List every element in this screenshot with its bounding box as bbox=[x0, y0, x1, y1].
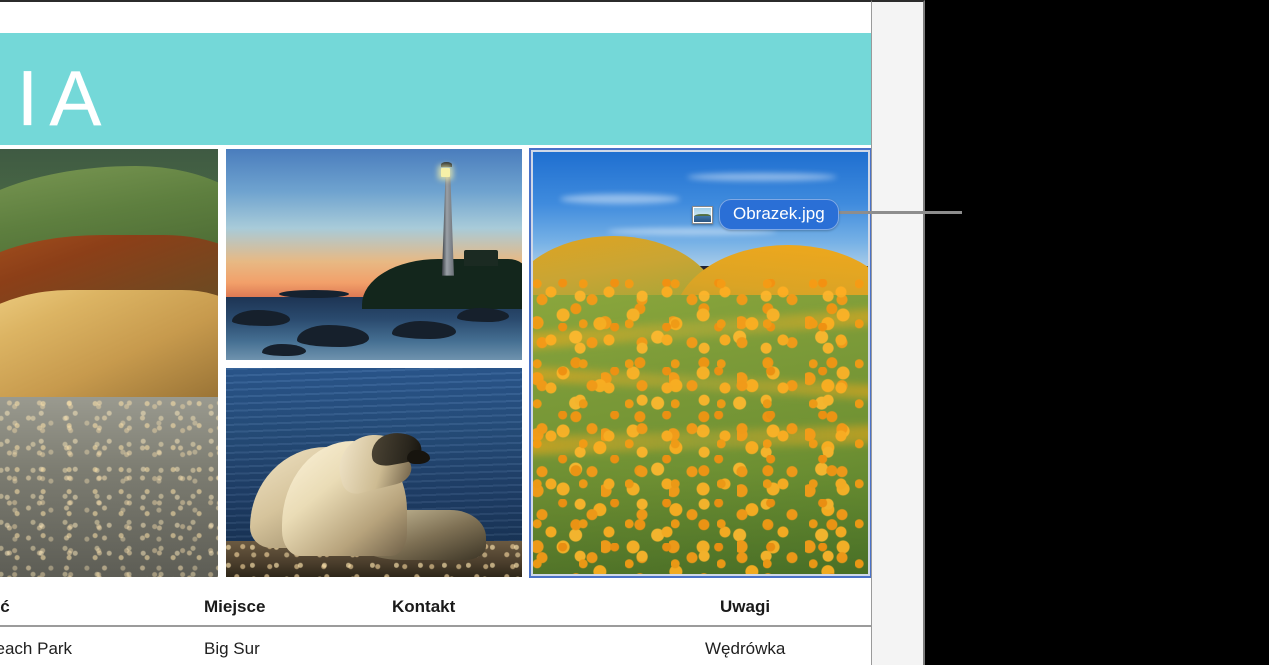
lighthouse-rock bbox=[262, 344, 306, 356]
title-banner: RNIA bbox=[0, 33, 871, 145]
coastal-cliffs-photo[interactable] bbox=[0, 149, 218, 577]
image-filename-callout[interactable]: Obrazek.jpg bbox=[692, 199, 839, 230]
table-cell-name[interactable]: e Beach Park bbox=[0, 639, 72, 659]
lighthouse-photo[interactable] bbox=[226, 149, 522, 360]
image-thumbnail-icon bbox=[692, 206, 713, 224]
lighthouse-lamp bbox=[441, 168, 450, 177]
thumb-water bbox=[694, 216, 711, 221]
lighthouse-rock bbox=[232, 310, 290, 326]
coast-pebble-beach bbox=[0, 397, 218, 577]
poppies-flowers bbox=[533, 279, 868, 574]
column-header-kontakt: Kontakt bbox=[392, 597, 455, 617]
table-cell-place[interactable]: Big Sur bbox=[204, 639, 260, 659]
table-cell-notes[interactable]: Wędrówka bbox=[705, 639, 785, 659]
data-table[interactable]: ność Miejsce Kontakt Uwagi e Beach Park … bbox=[0, 587, 871, 665]
lighthouse-rock bbox=[392, 321, 456, 339]
image-filename-label[interactable]: Obrazek.jpg bbox=[719, 199, 839, 230]
lighthouse-cap bbox=[441, 162, 452, 167]
lighthouse-rock bbox=[297, 325, 369, 347]
document-page[interactable]: RNIA bbox=[0, 0, 871, 665]
sea-lions-photo[interactable] bbox=[226, 368, 522, 577]
column-header-miejsce: Miejsce bbox=[204, 597, 265, 617]
callout-leader-line bbox=[838, 211, 962, 214]
lighthouse-rock bbox=[457, 308, 509, 322]
lighthouse-keeper-house bbox=[464, 250, 498, 266]
window-right-margin bbox=[871, 0, 925, 665]
column-header-uwagi: Uwagi bbox=[720, 597, 770, 617]
column-header-nosc: ność bbox=[0, 597, 10, 617]
screenshot-root: RNIA bbox=[0, 0, 1269, 665]
table-header-row: ność Miejsce Kontakt Uwagi bbox=[0, 587, 871, 627]
document-title[interactable]: RNIA bbox=[0, 59, 112, 137]
table-row[interactable]: e Beach Park Big Sur Wędrówka bbox=[0, 627, 871, 665]
